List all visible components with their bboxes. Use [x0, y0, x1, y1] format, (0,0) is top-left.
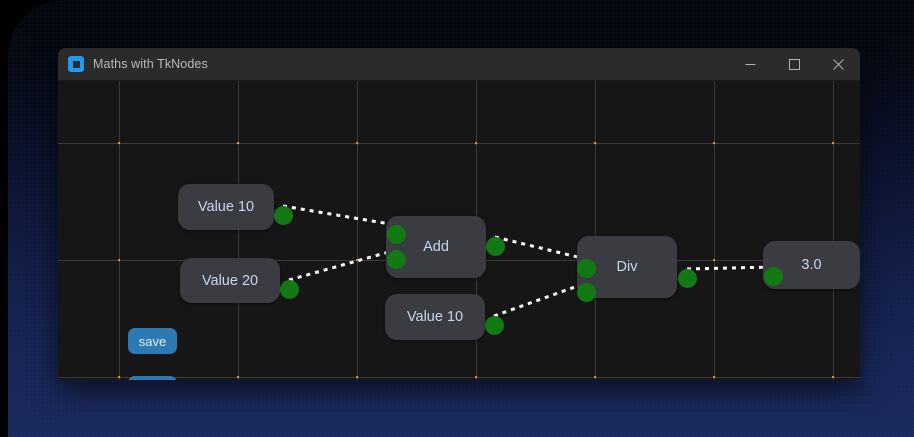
- app-window: Maths with TkNodes: [58, 48, 860, 380]
- port-div-output-8[interactable]: [678, 269, 697, 288]
- link-value10b.out-to-div.in2[interactable]: [494, 283, 586, 316]
- window-titlebar[interactable]: Maths with TkNodes: [58, 48, 860, 81]
- node-value10a[interactable]: Value 10: [178, 184, 274, 230]
- node-label: Value 10: [198, 199, 254, 215]
- app-square-icon: [68, 56, 84, 72]
- node-value20[interactable]: Value 20: [180, 258, 280, 303]
- node-graph-canvas[interactable]: Value 10Value 20AddValue 10Div3.0 save l…: [58, 81, 860, 380]
- node-label: 3.0: [801, 257, 821, 273]
- node-label: Value 20: [202, 273, 258, 289]
- node-label: Value 10: [407, 309, 463, 325]
- minimize-icon[interactable]: [728, 48, 772, 80]
- port-div-input-6[interactable]: [577, 259, 596, 278]
- node-value10b[interactable]: Value 10: [385, 294, 485, 340]
- port-div-input-7[interactable]: [577, 283, 596, 302]
- port-add-input-3[interactable]: [387, 250, 406, 269]
- port-add-output-4[interactable]: [486, 237, 505, 256]
- node-label: Div: [617, 259, 638, 275]
- desktop: Maths with TkNodes: [0, 0, 914, 437]
- port-value20-output-1[interactable]: [280, 280, 299, 299]
- node-label: Add: [423, 239, 449, 255]
- load-button[interactable]: load: [128, 376, 177, 380]
- port-add-input-2[interactable]: [387, 225, 406, 244]
- port-result-input-9[interactable]: [764, 267, 783, 286]
- close-icon[interactable]: [816, 48, 860, 80]
- save-button[interactable]: save: [128, 328, 177, 354]
- link-value10a.out-to-add.in1[interactable]: [283, 206, 396, 225]
- link-add.out-to-div.in1[interactable]: [495, 237, 586, 259]
- link-div.out-to-result.in[interactable]: [687, 267, 773, 269]
- maximize-icon[interactable]: [772, 48, 816, 80]
- link-value20.out-to-add.in2[interactable]: [289, 250, 396, 280]
- port-value10b-output-5[interactable]: [485, 316, 504, 335]
- port-value10a-output-0[interactable]: [274, 206, 293, 225]
- window-title: Maths with TkNodes: [93, 57, 728, 71]
